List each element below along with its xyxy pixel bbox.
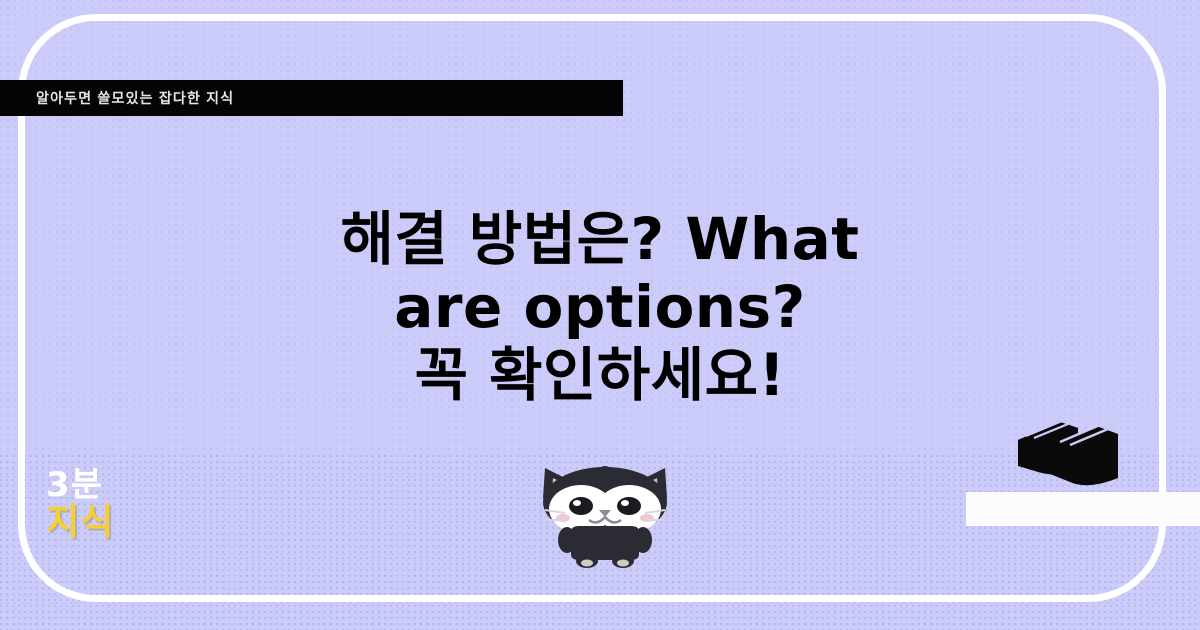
- category-banner-label: 알아두면 쓸모있는 잡다한 지식: [36, 88, 234, 108]
- category-banner: 알아두면 쓸모있는 잡다한 지식: [0, 80, 623, 116]
- headline-line-1: 해결 방법은? What: [230, 205, 970, 273]
- headline-line-2: are options?: [230, 273, 970, 341]
- brand-logo: 3분 지식: [46, 468, 114, 542]
- brand-logo-bottom-text: 지식: [46, 504, 114, 542]
- stacked-books-icon: [1012, 412, 1152, 500]
- brand-logo-top-text: 3분: [46, 468, 114, 502]
- cat-mascot-icon: [525, 458, 685, 570]
- headline: 해결 방법은? What are options? 꼭 확인하세요!: [230, 205, 970, 409]
- headline-line-3: 꼭 확인하세요!: [230, 341, 970, 409]
- thumbnail-card: 알아두면 쓸모있는 잡다한 지식 해결 방법은? What are option…: [0, 0, 1200, 630]
